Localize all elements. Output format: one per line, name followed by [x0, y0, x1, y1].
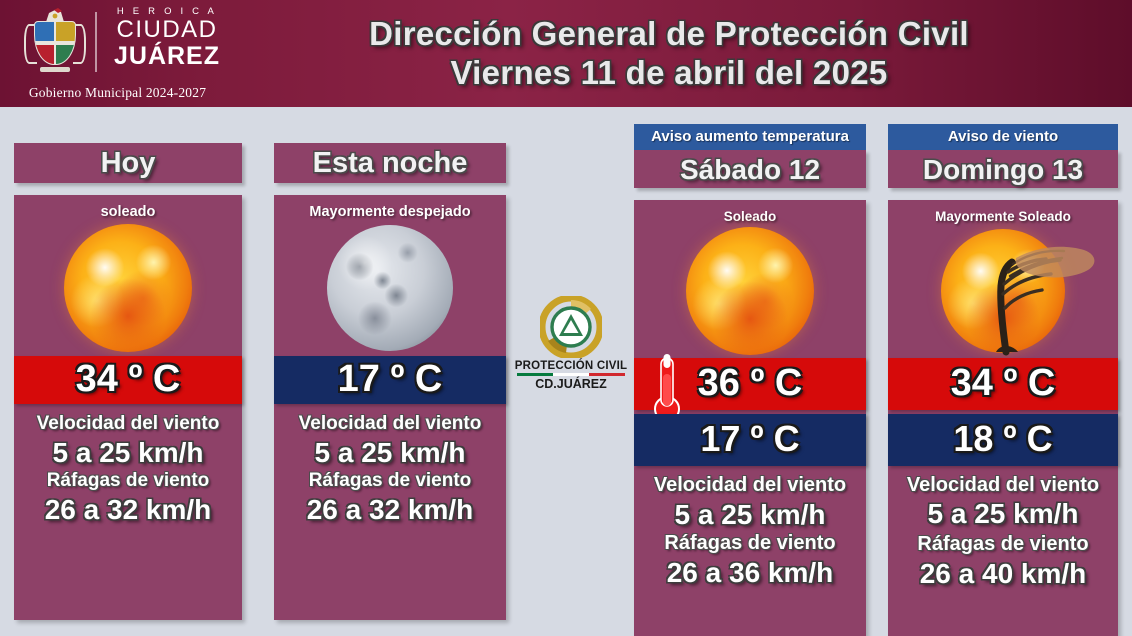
wind-speed-label: Velocidad del viento [14, 413, 242, 435]
juarez-label: JUÁREZ [108, 43, 226, 69]
day-title: Sábado 12 [634, 155, 866, 186]
wind-gusts-value: 26 a 32 km/h [274, 494, 506, 526]
low-temp-band: 18 º C [888, 414, 1118, 466]
low-temp-band: 17 º C [634, 414, 866, 466]
wind-gusts-label: Ráfagas de viento [888, 533, 1118, 556]
sun-icon [686, 227, 814, 355]
condition-label: soleado [14, 195, 242, 220]
proteccion-civil-emblem-icon [540, 296, 602, 358]
wind-speed-value: 5 a 25 km/h [888, 498, 1118, 530]
mexican-flag-bar-icon [517, 373, 625, 376]
wind-gusts-value: 26 a 40 km/h [888, 558, 1118, 590]
weather-icon-area [888, 224, 1118, 358]
condition-label: Mayormente Soleado [888, 200, 1118, 224]
forecast-column-saturday: Aviso aumento temperatura Sábado 12 Sole… [634, 124, 866, 636]
forecast-body: soleado 34 º C Velocidad del viento 5 a … [14, 195, 242, 620]
day-header: Domingo 13 [888, 150, 1118, 188]
high-temp-band: 34 º C [14, 356, 242, 404]
municipal-brand: H E R O I C A CIUDAD JUÁREZ Gobierno Mun… [0, 0, 232, 107]
condition-label: Soleado [634, 200, 866, 224]
weather-icon-area [634, 224, 866, 358]
weather-icon-area [274, 220, 506, 356]
gobierno-municipal-label: Gobierno Municipal 2024-2027 [10, 85, 225, 101]
proteccion-civil-city-label: CD.JUÁREZ [512, 377, 630, 391]
low-temp: 17 º C [338, 358, 443, 400]
proteccion-civil-label: PROTECCIÓN CIVIL [512, 360, 630, 372]
wind-speed-label: Velocidad del viento [634, 474, 866, 497]
wind-gusts-label: Ráfagas de viento [274, 470, 506, 492]
wind-speed-value: 5 a 25 km/h [274, 437, 506, 469]
high-temp-band: 36 º C [634, 358, 866, 410]
day-header: Esta noche [274, 143, 506, 183]
sun-icon [64, 224, 192, 352]
forecast-body: Soleado 36 º C 17 º C Velocidad del vien… [634, 200, 866, 636]
moon-icon [327, 225, 453, 351]
forecast-column-tonight: Esta noche Mayormente despejado 17 º C V… [274, 143, 506, 620]
day-title: Esta noche [274, 148, 506, 180]
high-temp: 34 º C [951, 362, 1056, 404]
wind-speed-label: Velocidad del viento [274, 413, 506, 435]
low-temp-band: 17 º C [274, 356, 506, 404]
wind-gusts-label: Ráfagas de viento [634, 532, 866, 555]
page-header: H E R O I C A CIUDAD JUÁREZ Gobierno Mun… [0, 0, 1132, 107]
ciudad-juarez-coat-of-arms-icon [24, 8, 86, 78]
brand-divider [95, 12, 97, 72]
forecast-column-today: Hoy soleado 34 º C Velocidad del viento … [14, 143, 242, 620]
aviso-banner: Aviso de viento [888, 124, 1118, 150]
wind-speed-value: 5 a 25 km/h [14, 437, 242, 469]
high-temp-band: 34 º C [888, 358, 1118, 410]
high-temp: 34 º C [76, 358, 181, 400]
day-title: Domingo 13 [888, 155, 1118, 186]
weather-icon-area [14, 220, 242, 356]
forecast-column-sunday: Aviso de viento Domingo 13 Mayormente So… [888, 124, 1118, 636]
aviso-banner: Aviso aumento temperatura [634, 124, 866, 150]
low-temp: 18 º C [953, 418, 1052, 459]
high-temp: 36 º C [698, 362, 803, 404]
proteccion-civil-logo: PROTECCIÓN CIVIL CD.JUÁREZ [512, 296, 630, 391]
page-title: Dirección General de Protección Civil Vi… [232, 15, 1132, 93]
wind-speed-value: 5 a 25 km/h [634, 499, 866, 531]
shield [34, 21, 76, 65]
title-line-2: Viernes 11 de abril del 2025 [232, 54, 1106, 93]
wind-gusts-value: 26 a 32 km/h [14, 494, 242, 526]
condition-label: Mayormente despejado [274, 195, 506, 220]
forecast-body: Mayormente despejado 17 º C Velocidad de… [274, 195, 506, 620]
forecast-body: Mayormente Soleado 34 º C 18 º C Velocid… [888, 200, 1118, 636]
day-header: Sábado 12 [634, 150, 866, 188]
title-line-1: Dirección General de Protección Civil [232, 15, 1106, 54]
brand-wordmark: H E R O I C A CIUDAD JUÁREZ [108, 6, 226, 69]
windblown-tree-icon [888, 224, 1118, 358]
wind-gusts-value: 26 a 36 km/h [634, 557, 866, 589]
ciudad-label: CIUDAD [108, 17, 226, 43]
wind-gusts-label: Ráfagas de viento [14, 470, 242, 492]
low-temp: 17 º C [700, 418, 799, 459]
day-title: Hoy [14, 148, 242, 180]
wind-speed-label: Velocidad del viento [888, 474, 1118, 497]
day-header: Hoy [14, 143, 242, 183]
